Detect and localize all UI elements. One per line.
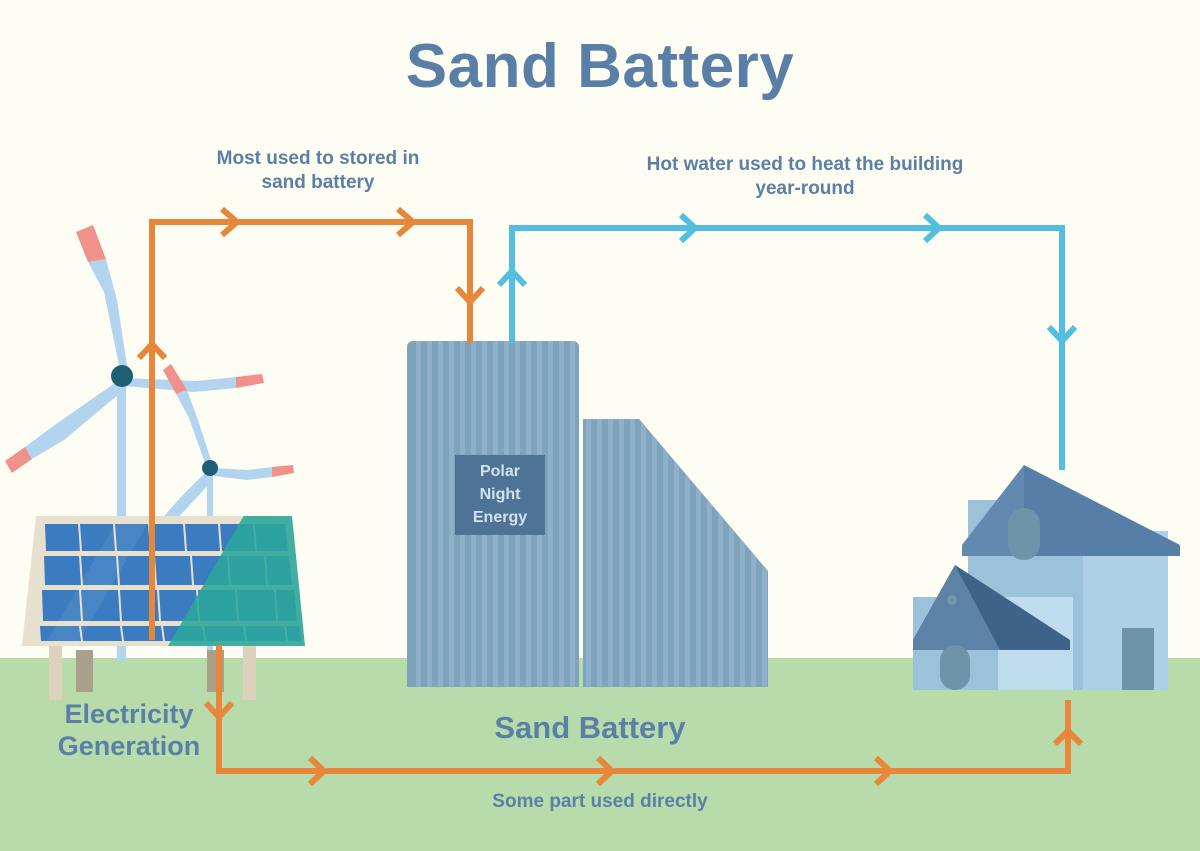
page-title: Sand Battery	[0, 28, 1200, 106]
infographic-canvas: Sand Battery Most used to stored in sand…	[0, 0, 1200, 851]
turbine-hub-small	[202, 460, 218, 476]
building-house	[913, 465, 1180, 690]
flow-label-store: Most used to stored in sand battery	[148, 147, 488, 195]
house-annex-vent	[947, 595, 957, 605]
panel-leg-left	[49, 645, 62, 700]
panel-leg-right	[243, 645, 256, 700]
turbine-blades-large	[5, 225, 264, 473]
turbine-blades-small	[158, 364, 294, 531]
house-right-window	[1122, 628, 1154, 690]
panel-post-left	[76, 650, 93, 692]
house-arched-window	[1008, 508, 1040, 560]
node-label-sand-battery: Sand Battery	[420, 709, 760, 748]
turbine-hub-large	[111, 365, 133, 387]
plaque-label-polar-night-energy: Polar Night Energy	[455, 460, 545, 530]
solar-panel	[22, 512, 305, 700]
node-label-electricity-generation: Electricity Generation	[26, 698, 232, 763]
flow-label-direct: Some part used directly	[430, 790, 770, 814]
flow-label-hot-water: Hot water used to heat the building year…	[605, 153, 1005, 201]
house-annex-door	[940, 645, 970, 690]
